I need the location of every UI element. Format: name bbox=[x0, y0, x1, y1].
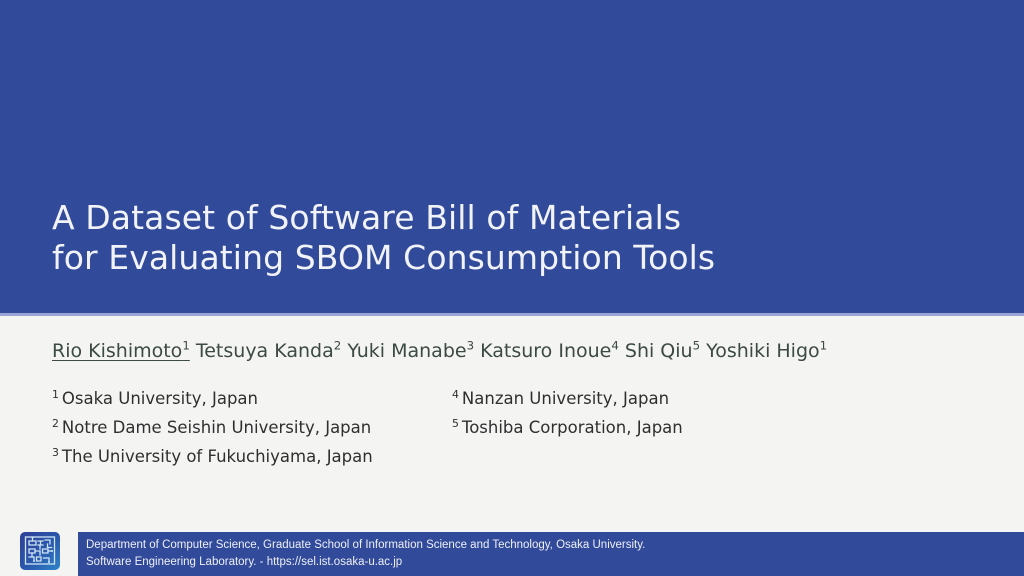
footer-line-lab-url[interactable]: Software Engineering Laboratory. - https… bbox=[86, 554, 1024, 571]
affiliation-marker: 2 bbox=[52, 417, 59, 430]
affiliation-item: 3The University of Fukuchiyama, Japan bbox=[52, 442, 452, 471]
footer-line-department: Department of Computer Science, Graduate… bbox=[86, 537, 1024, 554]
author-presenting: Rio Kishimoto1 bbox=[52, 340, 190, 362]
affiliation-column-right: 4Nanzan University, Japan 5Toshiba Corpo… bbox=[452, 384, 852, 471]
affiliation-marker: 4 bbox=[452, 388, 459, 401]
band-divider bbox=[0, 313, 1024, 316]
affiliation-item: 2Notre Dame Seishin University, Japan bbox=[52, 413, 452, 442]
author-name: Yuki Manabe bbox=[347, 340, 466, 362]
affiliation-item: 4Nanzan University, Japan bbox=[452, 384, 852, 413]
sel-lab-logo-icon bbox=[19, 531, 61, 571]
author-affiliation-marker: 1 bbox=[182, 339, 190, 353]
author-entry: Katsuro Inoue4 bbox=[480, 340, 619, 362]
author-name: Yoshiki Higo bbox=[706, 340, 820, 362]
author-name: Shi Qiu bbox=[625, 340, 693, 362]
author-entry: Yuki Manabe3 bbox=[347, 340, 474, 362]
footer-bar: Department of Computer Science, Graduate… bbox=[78, 532, 1024, 576]
author-name: Rio Kishimoto bbox=[52, 340, 182, 362]
author-list: Rio Kishimoto1 Tetsuya Kanda2 Yuki Manab… bbox=[52, 338, 982, 364]
affiliation-text: Osaka University, Japan bbox=[62, 389, 258, 408]
author-name: Katsuro Inoue bbox=[480, 340, 611, 362]
author-affiliation-marker: 4 bbox=[611, 339, 619, 353]
author-entry: Shi Qiu5 bbox=[625, 340, 700, 362]
author-affiliation-marker: 1 bbox=[820, 339, 828, 353]
author-entry: Yoshiki Higo1 bbox=[706, 340, 827, 362]
affiliation-marker: 3 bbox=[52, 446, 59, 459]
affiliation-text: Nanzan University, Japan bbox=[462, 389, 669, 408]
author-name: Tetsuya Kanda bbox=[196, 340, 334, 362]
page-title: A Dataset of Software Bill of Materials … bbox=[52, 198, 952, 278]
affiliation-column-left: 1Osaka University, Japan 2Notre Dame Sei… bbox=[52, 384, 452, 471]
affiliation-marker: 1 bbox=[52, 388, 59, 401]
affiliation-list: 1Osaka University, Japan 2Notre Dame Sei… bbox=[52, 384, 952, 471]
affiliation-text: Notre Dame Seishin University, Japan bbox=[62, 418, 371, 437]
title-slide: A Dataset of Software Bill of Materials … bbox=[0, 0, 1024, 576]
affiliation-text: Toshiba Corporation, Japan bbox=[462, 418, 683, 437]
affiliation-item: 1Osaka University, Japan bbox=[52, 384, 452, 413]
affiliation-text: The University of Fukuchiyama, Japan bbox=[62, 447, 373, 466]
affiliation-item: 5Toshiba Corporation, Japan bbox=[452, 413, 852, 442]
author-entry: Tetsuya Kanda2 bbox=[196, 340, 341, 362]
affiliation-marker: 5 bbox=[452, 417, 459, 430]
author-affiliation-marker: 3 bbox=[467, 339, 475, 353]
author-affiliation-marker: 5 bbox=[693, 339, 701, 353]
